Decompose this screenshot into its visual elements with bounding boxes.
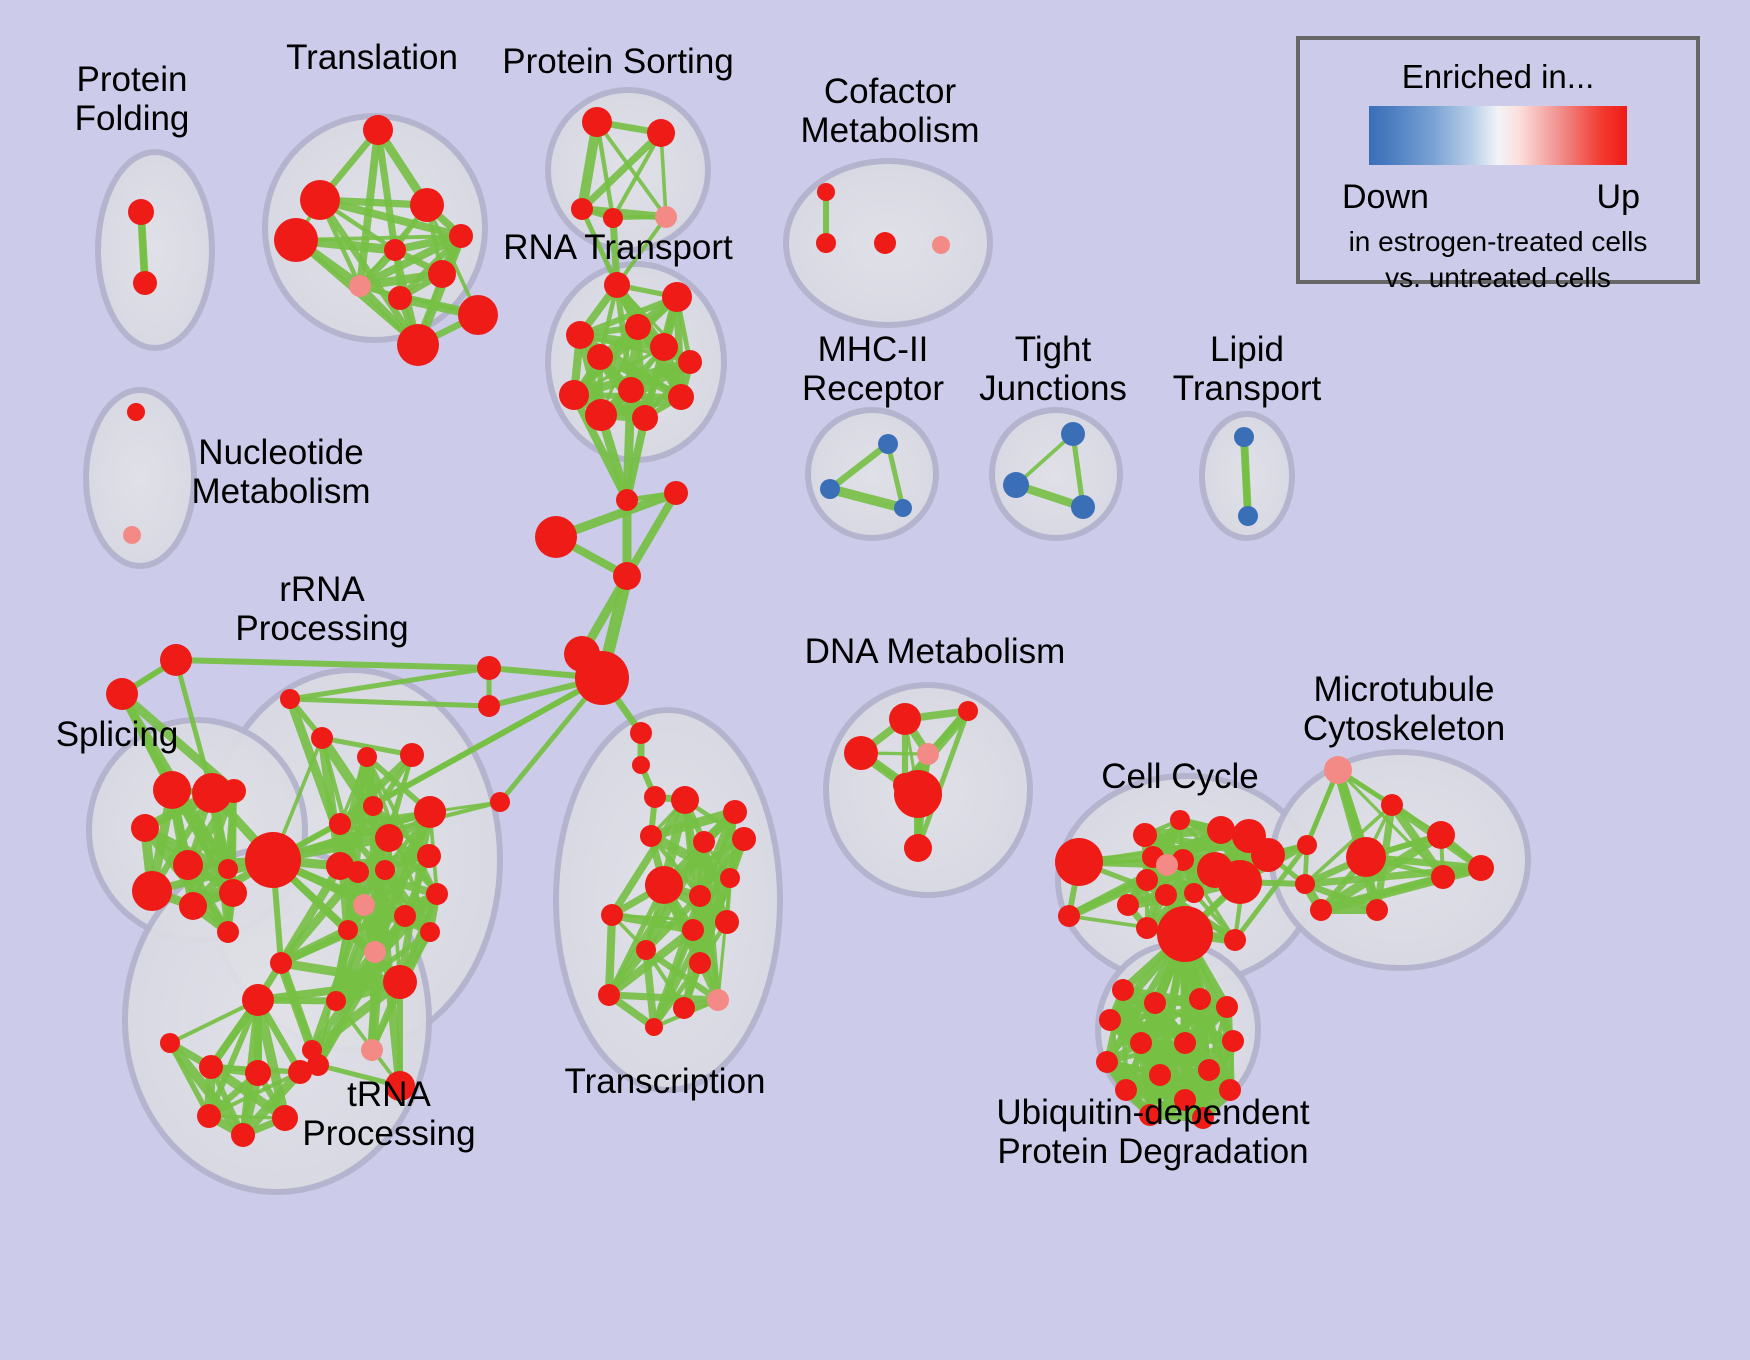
network-node [288,1060,312,1084]
legend-color-gradient [1369,106,1627,165]
network-node [458,295,498,335]
network-node [192,773,232,813]
network-node [1427,821,1455,849]
network-node [302,1040,322,1060]
network-node [280,689,300,709]
network-node [816,233,836,253]
network-node [571,198,593,220]
network-node [1297,835,1317,855]
network-node [668,384,694,410]
network-node [645,1018,663,1036]
network-node [1346,837,1386,877]
network-node [625,314,651,340]
network-node [375,860,395,880]
network-node [559,380,589,410]
network-node [1238,506,1258,526]
network-node [326,991,346,1011]
network-node [400,743,424,767]
network-node [173,850,203,880]
network-node [132,871,172,911]
network-node [353,894,375,916]
network-node [1157,906,1213,962]
network-node [363,115,393,145]
network-node [1139,1104,1161,1126]
network-node [645,866,683,904]
network-node [199,1055,223,1079]
network-node [160,1033,180,1053]
network-node [630,722,652,744]
network-node [231,1123,255,1147]
network-node [671,786,699,814]
network-node [349,275,371,297]
network-node [582,107,612,137]
network-node [338,920,358,940]
network-node [844,736,878,770]
legend-box: Enriched in... Down Up in estrogen-treat… [1296,36,1700,284]
network-node [347,861,369,883]
network-node [219,879,247,907]
network-node [618,377,644,403]
network-node [1234,427,1254,447]
network-node [361,1039,383,1061]
cluster-ellipse-protein-sorting [548,90,708,250]
legend-high-label: Up [1597,178,1640,217]
network-node [394,905,416,927]
network-node [1170,810,1190,830]
network-node [1222,1030,1244,1052]
network-node [1149,1064,1171,1086]
network-node [385,1071,415,1101]
network-node [662,282,692,312]
network-node [1295,874,1315,894]
network-node [720,868,740,888]
network-node [160,644,192,676]
network-node [417,844,441,868]
network-node [1251,838,1285,872]
network-node [217,921,239,943]
network-node [1130,1032,1152,1054]
network-node [133,271,157,295]
network-node [678,350,702,374]
network-node [274,218,318,262]
network-node [1184,883,1204,903]
legend-title: Enriched in... [1300,58,1696,96]
network-node [414,796,446,828]
network-node [732,827,756,851]
network-node [693,831,715,853]
network-node [1366,899,1388,921]
network-node [650,333,678,361]
network-node [1218,860,1262,904]
network-node [1198,1059,1220,1081]
network-node [1115,1079,1137,1101]
network-node [123,526,141,544]
network-node [477,656,501,680]
network-node [1468,855,1494,881]
network-node [1216,996,1238,1018]
network-node [1155,884,1177,906]
network-node [689,885,711,907]
network-node [478,695,500,717]
network-node [311,727,333,749]
network-node [375,824,403,852]
network-node [388,286,412,310]
network-node [1055,838,1103,886]
network-node [179,892,207,920]
network-node [673,997,695,1019]
network-node [632,756,650,774]
network-node [664,481,688,505]
network-node [1381,794,1403,816]
network-node [128,199,154,225]
network-node [613,562,641,590]
network-figure: Protein FoldingTranslationProtein Sortin… [0,0,1750,1360]
network-edge [609,915,612,995]
network-node [894,770,942,818]
network-node [1112,979,1134,1001]
network-node [1174,1032,1196,1054]
network-node [917,743,939,765]
network-node [707,989,729,1011]
network-node [1136,869,1158,891]
network-node [632,405,658,431]
network-node [197,1104,221,1128]
network-node [426,883,448,905]
network-node [647,119,675,147]
network-node [245,832,301,888]
network-node [1174,1089,1196,1111]
cluster-ellipse-protein-folding [98,152,212,348]
network-node [357,747,377,767]
network-node [566,321,594,349]
network-node [655,206,677,228]
network-node [383,965,417,999]
network-node [603,208,623,228]
network-edge [176,660,489,668]
network-node [1133,823,1157,847]
network-node [636,940,656,960]
network-node [153,771,191,809]
network-node [1099,1009,1121,1031]
legend-subtitle-line1: in estrogen-treated cells [1300,226,1696,258]
network-edge [627,390,631,500]
network-node [449,224,473,248]
network-node [1189,988,1211,1010]
network-node [723,800,747,824]
network-node [1003,472,1029,498]
network-node [329,813,351,835]
network-node [1219,1079,1241,1101]
network-node [894,499,912,517]
network-node [242,984,274,1016]
network-node [131,814,159,842]
network-node [1096,1051,1118,1073]
network-node [1071,495,1095,519]
network-node [127,403,145,421]
network-node [874,232,896,254]
network-node [1136,917,1158,939]
network-node [644,786,666,808]
network-node [616,489,638,511]
network-node [1207,816,1235,844]
network-node [601,904,623,926]
network-node [245,1060,271,1086]
network-node [1144,992,1166,1014]
network-node [410,188,444,222]
legend-low-label: Down [1342,178,1429,217]
network-node [958,701,978,721]
network-node [889,703,921,735]
network-node [904,834,932,862]
network-node [272,1105,298,1131]
network-node [300,180,340,220]
network-node [817,183,835,201]
network-node [1324,756,1352,784]
network-node [364,941,386,963]
network-node [363,796,383,816]
network-node [575,651,629,705]
cluster-ellipse-mhc-ii-receptor [808,410,936,538]
network-node [1431,865,1455,889]
network-node [270,952,292,974]
network-edge [609,995,718,1000]
network-node [420,922,440,942]
network-node [640,825,662,847]
network-node [397,324,439,366]
network-node [490,792,510,812]
network-node [587,344,613,370]
network-node [1224,929,1246,951]
network-node [428,260,456,288]
network-node [689,952,711,974]
network-node [598,984,620,1006]
network-node [604,272,630,298]
network-node [1192,1107,1214,1129]
network-node [682,919,704,941]
network-node [1058,905,1080,927]
network-node [585,399,617,431]
network-edge [1244,437,1248,516]
network-node [535,516,577,558]
network-node [878,434,898,454]
network-node [218,859,238,879]
network-node [932,236,950,254]
network-node [106,678,138,710]
network-node [1156,854,1178,876]
network-node [384,239,406,261]
network-node [1310,899,1332,921]
legend-subtitle-line2: vs. untreated cells [1300,262,1696,294]
network-node [1117,894,1139,916]
network-node [715,910,739,934]
network-node [820,479,840,499]
network-node [1061,422,1085,446]
